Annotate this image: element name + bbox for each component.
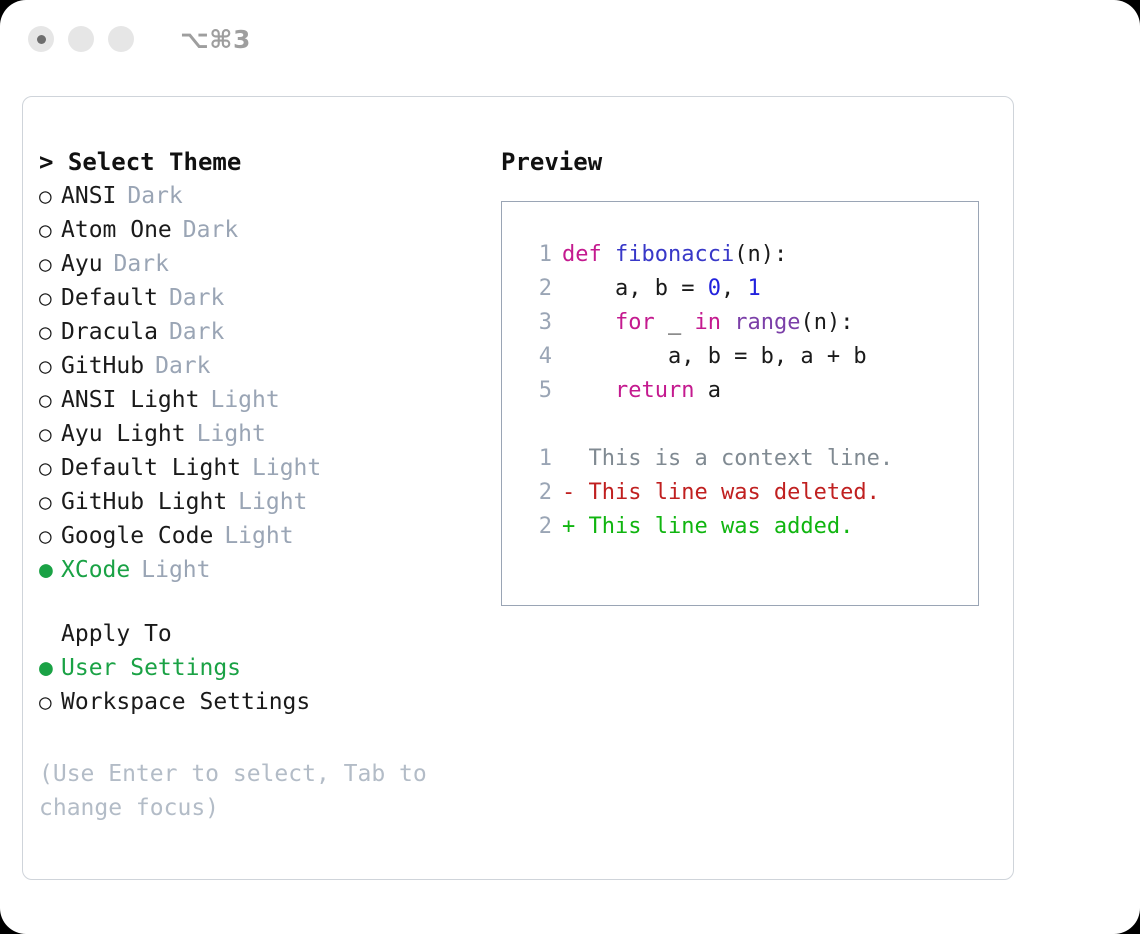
code-line-content: for _ in range(n): (562, 306, 853, 340)
apply-to-item[interactable]: ●User Settings (39, 651, 489, 685)
diff-marker: + (562, 510, 589, 544)
title-bar: ⌥⌘3 (0, 0, 1140, 78)
code-line-content: a, b = 0, 1 (562, 272, 761, 306)
code-diff-gap (520, 408, 978, 442)
list-spacer (39, 587, 489, 617)
radio-unselected-icon: ○ (39, 281, 61, 315)
code-token: def (562, 242, 615, 267)
theme-variant-badge: Dark (169, 281, 224, 315)
theme-variant-badge: Light (141, 553, 210, 587)
code-token: a (694, 378, 721, 403)
theme-variant-badge: Light (210, 383, 279, 417)
theme-list-item[interactable]: ○Default LightLight (39, 451, 489, 485)
theme-list-item[interactable]: ○GitHub LightLight (39, 485, 489, 519)
code-line-number: 1 (520, 238, 552, 272)
code-line: 1def fibonacci(n): (520, 238, 978, 272)
code-line: 4 a, b = b, a + b (520, 340, 978, 374)
radio-unselected-icon: ○ (39, 349, 61, 383)
theme-variant-badge: Light (197, 417, 266, 451)
select-theme-heading: > Select Theme (39, 145, 489, 179)
radio-unselected-icon: ○ (39, 685, 61, 719)
code-line-content: return a (562, 374, 721, 408)
code-line: 3 for _ in range(n): (520, 306, 978, 340)
code-line: 2 a, b = 0, 1 (520, 272, 978, 306)
diff-line: 2- This line was deleted. (520, 476, 978, 510)
theme-variant-badge: Dark (183, 213, 238, 247)
theme-list-item-label: Ayu (61, 247, 103, 281)
code-token: (n): (800, 310, 853, 335)
hint-spacer (39, 719, 489, 757)
code-token: fibonacci (615, 242, 734, 267)
theme-list-item-label: ANSI Light (61, 383, 199, 417)
diff-line-text: This line was deleted. (589, 476, 880, 510)
radio-unselected-icon: ○ (39, 383, 61, 417)
code-line-number: 3 (520, 306, 552, 340)
code-token: , (721, 276, 748, 301)
theme-variant-badge: Light (224, 519, 293, 553)
diff-marker (562, 442, 589, 476)
code-token: 1 (747, 276, 760, 301)
radio-unselected-icon: ○ (39, 519, 61, 553)
code-line-content: def fibonacci(n): (562, 238, 787, 272)
diff-line-number: 1 (520, 442, 552, 476)
theme-list-item-label: GitHub Light (61, 485, 227, 519)
main-panel: > Select Theme ○ANSIDark○Atom OneDark○Ay… (22, 96, 1014, 880)
theme-list-item[interactable]: ○DraculaDark (39, 315, 489, 349)
diff-line: 2+ This line was added. (520, 510, 978, 544)
theme-variant-badge: Light (252, 451, 321, 485)
code-token: return (615, 378, 694, 403)
theme-list-item-label: Ayu Light (61, 417, 186, 451)
code-line: 5 return a (520, 374, 978, 408)
radio-selected-icon: ● (39, 651, 61, 685)
radio-unselected-icon: ○ (39, 315, 61, 349)
code-token: a, b = (562, 276, 708, 301)
theme-list-item-label: Dracula (61, 315, 158, 349)
apply-to-list[interactable]: ●User Settings○Workspace Settings (39, 651, 489, 719)
theme-variant-badge: Dark (155, 349, 210, 383)
code-token (562, 310, 615, 335)
theme-list-item-label: Atom One (61, 213, 172, 247)
theme-list-item[interactable]: ○Google CodeLight (39, 519, 489, 553)
diff-marker: - (562, 476, 589, 510)
code-token: _ (655, 310, 695, 335)
apply-to-item[interactable]: ○Workspace Settings (39, 685, 489, 719)
diff-sample: 1 This is a context line.2- This line wa… (520, 442, 978, 544)
dot-three-icon[interactable] (108, 26, 134, 52)
theme-list-item-label: GitHub (61, 349, 144, 383)
theme-list-item[interactable]: ○DefaultDark (39, 281, 489, 315)
record-dot-icon[interactable] (28, 26, 54, 52)
theme-list-item[interactable]: ○ANSI LightLight (39, 383, 489, 417)
theme-selector-column: > Select Theme ○ANSIDark○Atom OneDark○Ay… (39, 145, 489, 825)
theme-list-item[interactable]: ●XCodeLight (39, 553, 489, 587)
apply-to-item-label: Workspace Settings (61, 685, 310, 719)
app-window: ⌥⌘3 > Select Theme ○ANSIDark○Atom OneDar… (0, 0, 1140, 934)
theme-list-item-label: Default Light (61, 451, 241, 485)
code-token: for (615, 310, 655, 335)
keyboard-shortcut-label: ⌥⌘3 (180, 25, 251, 54)
code-token: in (694, 310, 721, 335)
theme-list[interactable]: ○ANSIDark○Atom OneDark○AyuDark○DefaultDa… (39, 179, 489, 587)
code-token: a, b = b, a + b (562, 344, 867, 369)
code-token: (n): (734, 242, 787, 267)
theme-variant-badge: Dark (127, 179, 182, 213)
preview-box: 1def fibonacci(n):2 a, b = 0, 13 for _ i… (501, 201, 979, 606)
code-line-content: a, b = b, a + b (562, 340, 867, 374)
preview-heading: Preview (501, 145, 1001, 179)
theme-list-item-label: XCode (61, 553, 130, 587)
theme-variant-badge: Dark (114, 247, 169, 281)
diff-line-number: 2 (520, 476, 552, 510)
radio-unselected-icon: ○ (39, 247, 61, 281)
code-line-number: 4 (520, 340, 552, 374)
code-line-number: 5 (520, 374, 552, 408)
theme-variant-badge: Dark (169, 315, 224, 349)
code-token: range (734, 310, 800, 335)
diff-line: 1 This is a context line. (520, 442, 978, 476)
radio-selected-icon: ● (39, 553, 61, 587)
dot-two-icon[interactable] (68, 26, 94, 52)
theme-list-item[interactable]: ○Atom OneDark (39, 213, 489, 247)
radio-unselected-icon: ○ (39, 213, 61, 247)
diff-line-number: 2 (520, 510, 552, 544)
theme-list-item-label: ANSI (61, 179, 116, 213)
theme-list-item-label: Google Code (61, 519, 213, 553)
radio-unselected-icon: ○ (39, 417, 61, 451)
diff-line-text: This is a context line. (589, 442, 894, 476)
radio-unselected-icon: ○ (39, 485, 61, 519)
theme-list-item[interactable]: ○ANSIDark (39, 179, 489, 213)
theme-list-item-label: Default (61, 281, 158, 315)
code-line-number: 2 (520, 272, 552, 306)
theme-list-item[interactable]: ○GitHubDark (39, 349, 489, 383)
panel-columns: > Select Theme ○ANSIDark○Atom OneDark○Ay… (23, 97, 1013, 879)
apply-to-item-label: User Settings (61, 651, 241, 685)
theme-list-item[interactable]: ○Ayu LightLight (39, 417, 489, 451)
preview-column: Preview 1def fibonacci(n):2 a, b = 0, 13… (501, 145, 1001, 606)
radio-unselected-icon: ○ (39, 451, 61, 485)
code-sample: 1def fibonacci(n):2 a, b = 0, 13 for _ i… (520, 238, 978, 408)
theme-variant-badge: Light (238, 485, 307, 519)
apply-to-heading: Apply To (39, 617, 489, 651)
diff-line-text: This line was added. (589, 510, 854, 544)
code-token (562, 378, 615, 403)
code-token: 0 (708, 276, 721, 301)
theme-list-item[interactable]: ○AyuDark (39, 247, 489, 281)
keyboard-hint-text: (Use Enter to select, Tab to change focu… (39, 757, 459, 825)
radio-unselected-icon: ○ (39, 179, 61, 213)
code-token (721, 310, 734, 335)
